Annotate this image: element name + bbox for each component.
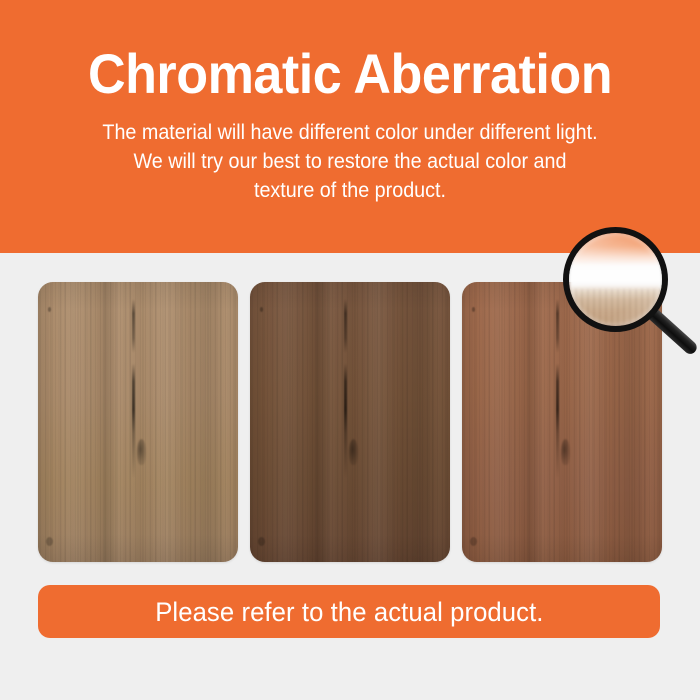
cherry-wood-swatch	[462, 282, 662, 562]
dark-walnut-swatch	[250, 282, 450, 562]
swatch-vignette	[38, 282, 238, 562]
swatch-vignette	[462, 282, 662, 562]
subtitle-line-1: The material will have different color u…	[57, 118, 644, 147]
subtitle-line-2: We will try our best to restore the actu…	[57, 147, 644, 176]
wood-swatch-row	[0, 253, 700, 578]
light-oak-swatch	[38, 282, 238, 562]
header-subtitle: The material will have different color u…	[57, 118, 644, 205]
chromatic-aberration-infographic: Chromatic Aberration The material will h…	[0, 0, 700, 700]
footer-message: Please refer to the actual product.	[155, 597, 543, 627]
page-title: Chromatic Aberration	[25, 42, 676, 106]
swatch-vignette	[250, 282, 450, 562]
subtitle-line-3: texture of the product.	[57, 176, 644, 205]
header-banner: Chromatic Aberration The material will h…	[0, 0, 700, 253]
footer-banner: Please refer to the actual product.	[38, 585, 660, 638]
